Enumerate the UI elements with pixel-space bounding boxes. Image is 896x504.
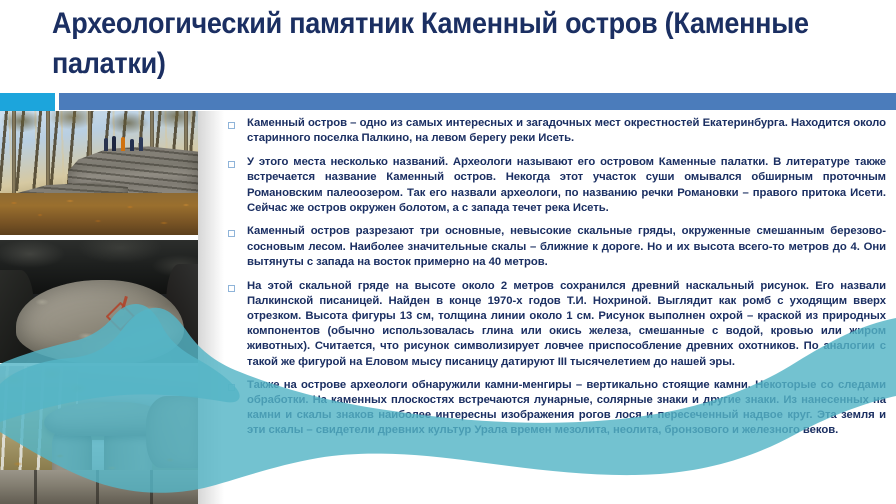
blue-divider-bar — [59, 93, 896, 110]
photo1-leaf-litter — [0, 193, 198, 235]
photo-column-shadow — [198, 111, 224, 504]
bullet-square-icon — [228, 384, 235, 391]
list-item-text: У этого места несколько названий. Археол… — [247, 155, 886, 217]
photo1-trunk-a — [12, 111, 16, 197]
divider-row — [0, 93, 896, 111]
photo2-ochre-petroglyph — [108, 296, 134, 330]
list-item: У этого места несколько названий. Археол… — [228, 155, 886, 217]
list-item: Каменный остров разрезают три основные, … — [228, 224, 886, 270]
list-item-text: Каменный остров – одно из самых интересн… — [247, 116, 886, 147]
bullet-square-icon — [228, 230, 235, 237]
list-item: Каменный остров – одно из самых интересн… — [228, 116, 886, 147]
title-block: Археологический памятник Каменный остров… — [52, 4, 872, 90]
cyan-accent-block — [0, 93, 55, 111]
photo-petroglyph — [0, 240, 198, 363]
page-title: Археологический памятник Каменный остров… — [52, 4, 880, 84]
list-item: На этой скальной гряде на высоте около 2… — [228, 279, 886, 370]
photo-column — [0, 111, 198, 504]
bullet-square-icon — [228, 285, 235, 292]
photo-rocks-forest — [0, 111, 198, 235]
body-text-block: Каменный остров – одно из самых интересн… — [228, 116, 886, 502]
list-item: Также на острове археологи обнаружили ка… — [228, 378, 886, 439]
list-item-text: Также на острове археологи обнаружили ка… — [247, 378, 886, 439]
list-item-text: На этой скальной гряде на высоте около 2… — [247, 279, 886, 370]
photo3-foreground-stones — [0, 470, 198, 504]
photo1-people-group — [104, 133, 148, 151]
photo1-canopy — [0, 111, 198, 153]
photo2-lichen-patches — [16, 280, 184, 363]
presentation-slide: Археологический памятник Каменный остров… — [0, 0, 896, 504]
bullet-square-icon — [228, 122, 235, 129]
photo-menhir — [0, 366, 198, 504]
bullet-square-icon — [228, 161, 235, 168]
list-item-text: Каменный остров разрезают три основные, … — [247, 224, 886, 270]
photo1-trunk-b — [46, 111, 50, 197]
